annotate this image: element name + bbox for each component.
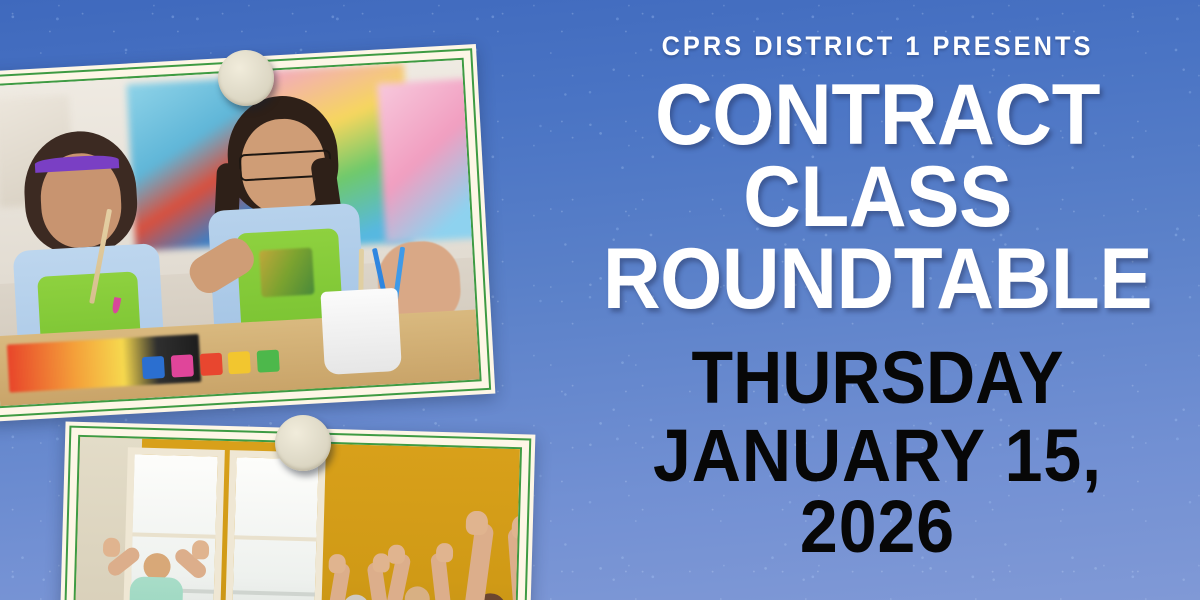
headline-line-3: ROUNDTABLE — [578, 240, 1178, 320]
eyebrow-text: CPRS DISTRICT 1 PRESENTS — [574, 33, 1180, 60]
head — [343, 595, 369, 600]
pin-icon-fitness-frame — [275, 415, 331, 471]
event-date: JANUARY 15, 2026 — [581, 420, 1174, 564]
paint-pot-pink — [171, 354, 194, 377]
promotional-poster: CPRS DISTRICT 1 PRESENTS CONTRACT CLASS … — [0, 0, 1200, 600]
paint-pot-red — [199, 353, 222, 376]
text-column: CPRS DISTRICT 1 PRESENTS CONTRACT CLASS … — [555, 0, 1200, 600]
event-day: THURSDAY — [581, 342, 1174, 414]
art-class-scene — [0, 60, 480, 406]
window-mullion — [234, 536, 317, 542]
paint-pot-blue — [142, 356, 165, 379]
paint-pot-green — [257, 349, 280, 372]
headline-line-1: CONTRACT — [578, 76, 1178, 156]
apron-paint-stain — [259, 247, 315, 297]
brush-cup — [321, 288, 402, 375]
participant-4 — [452, 522, 522, 600]
torso — [128, 577, 183, 600]
paint-pot-yellow — [228, 351, 251, 374]
window-right — [224, 450, 326, 600]
pin-icon-art-frame — [218, 50, 274, 106]
hand-left — [465, 511, 488, 536]
hand-left — [388, 544, 406, 563]
hand-right — [192, 540, 210, 559]
photo-art-class — [0, 58, 482, 409]
hand-left — [328, 554, 346, 573]
window-blind — [232, 590, 315, 596]
participant-3 — [382, 551, 456, 600]
headline-line-2: CLASS — [578, 158, 1178, 238]
hand-right — [511, 515, 522, 540]
hand-left — [103, 538, 121, 557]
head — [405, 586, 431, 600]
participant-1 — [100, 521, 209, 600]
participant-2 — [320, 558, 393, 600]
hand-right — [435, 543, 453, 562]
